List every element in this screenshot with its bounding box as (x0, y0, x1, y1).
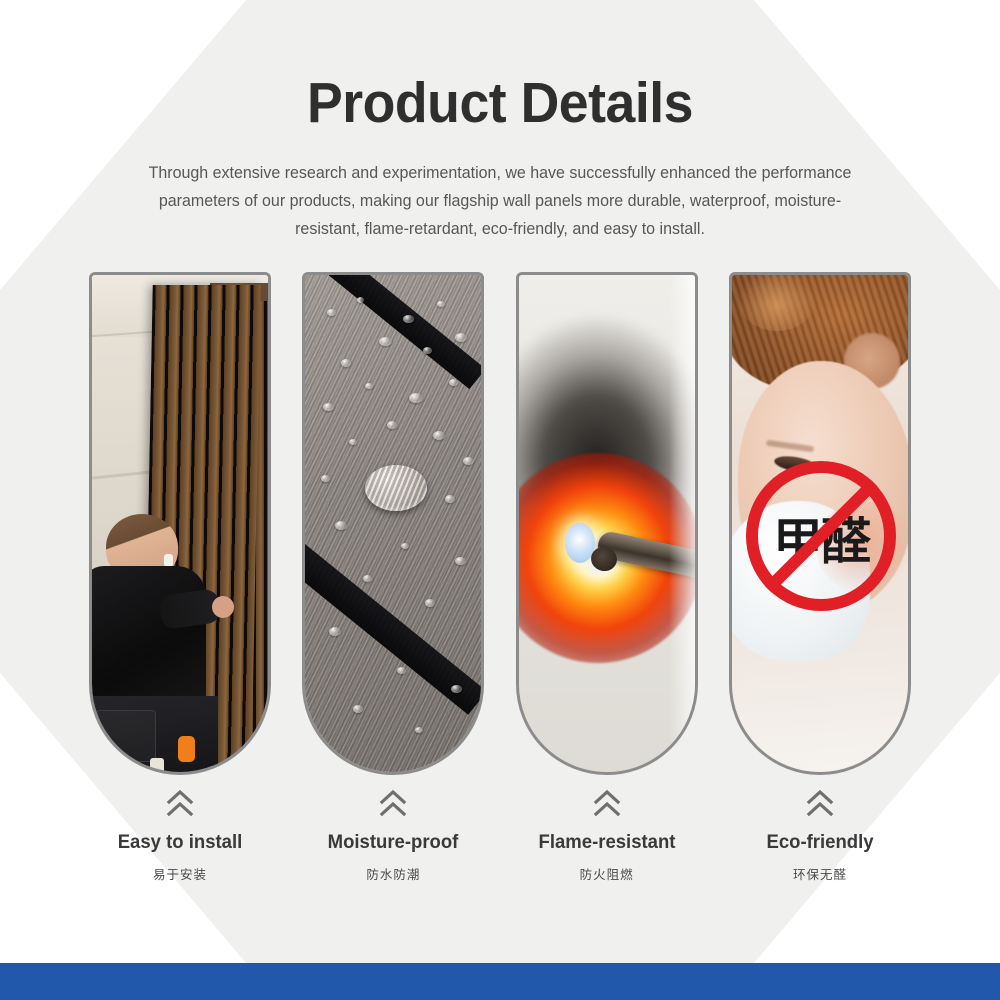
feature-card-flame-resistant[interactable]: Flame-resistant 防火阻燃 (516, 272, 698, 883)
no-formaldehyde-icon: 甲醛 (746, 461, 896, 611)
product-details-page: Product Details Through extensive resear… (0, 0, 1000, 1000)
feature-caption-flame-resistant: Flame-resistant 防火阻燃 (516, 789, 698, 883)
feature-card-moisture-proof[interactable]: Moisture-proof 防水防潮 (302, 272, 484, 883)
double-chevron-up-icon (302, 789, 484, 817)
bottom-accent-bar (0, 963, 1000, 1000)
feature-label-en: Flame-resistant (520, 831, 693, 854)
feature-caption-moisture-proof: Moisture-proof 防水防潮 (302, 789, 484, 883)
feature-label-cn: 易于安装 (89, 864, 271, 883)
feature-label-cn: 环保无醛 (729, 864, 911, 883)
page-subtitle: Through extensive research and experimen… (131, 159, 868, 243)
feature-label-cn: 防水防潮 (302, 864, 484, 883)
feature-card-easy-to-install[interactable]: Easy to install 易于安装 (89, 272, 271, 883)
feature-label-cn: 防火阻燃 (516, 864, 698, 883)
page-header: Product Details Through extensive resear… (0, 0, 1000, 243)
feature-image-moisture-proof (302, 272, 484, 775)
feature-image-flame-resistant (516, 272, 698, 775)
page-title: Product Details (30, 72, 970, 135)
feature-label-en: Easy to install (94, 831, 267, 854)
feature-label-en: Moisture-proof (307, 831, 480, 854)
feature-image-eco-friendly: 甲醛 (729, 272, 911, 775)
double-chevron-up-icon (729, 789, 911, 817)
feature-caption-eco-friendly: Eco-friendly 环保无醛 (729, 789, 911, 883)
feature-label-en: Eco-friendly (734, 831, 907, 854)
double-chevron-up-icon (516, 789, 698, 817)
feature-caption-easy-to-install: Easy to install 易于安装 (89, 789, 271, 883)
feature-image-easy-to-install (89, 272, 271, 775)
feature-card-eco-friendly[interactable]: 甲醛 Eco-friendly 环保无醛 (729, 272, 911, 883)
double-chevron-up-icon (89, 789, 271, 817)
feature-card-list: Easy to install 易于安装 (89, 272, 911, 883)
